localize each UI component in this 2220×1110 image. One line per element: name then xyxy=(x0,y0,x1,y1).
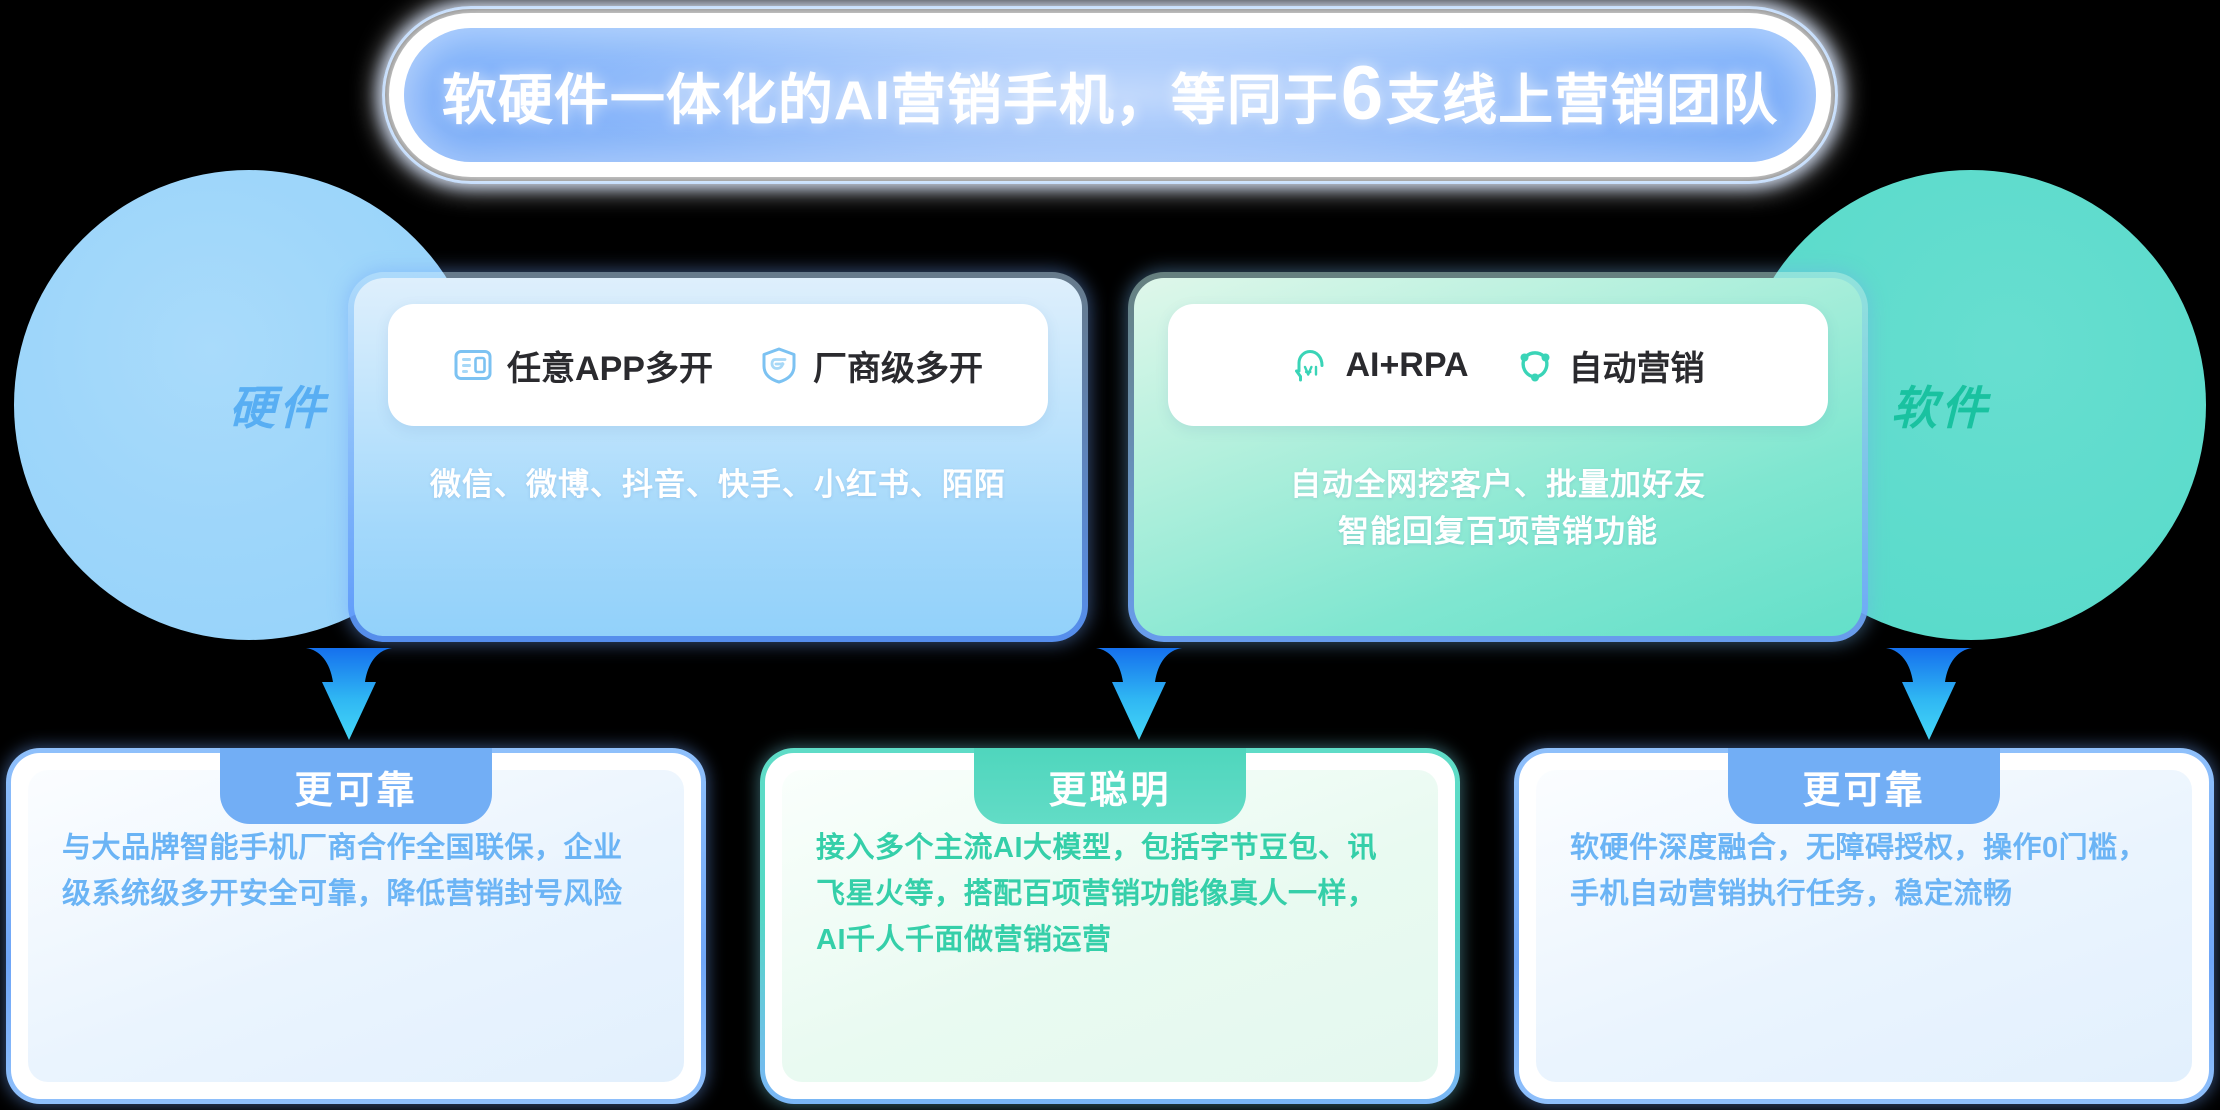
benefit-card-2-text: 接入多个主流AI大模型，包括字节豆包、讯飞星火等，搭配百项营销功能像真人一样，A… xyxy=(816,826,1404,963)
title-banner: 软硬件一体化的AI营销手机，等同于6支线上营销团队 xyxy=(382,6,1838,184)
software-desc-line-1: 自动全网挖客户、批量加好友 xyxy=(1290,462,1706,509)
arrow-down-left-icon xyxy=(306,648,392,744)
software-feature-card: AI+RPA 自动营销 xyxy=(1128,272,1868,642)
software-feature-description: 自动全网挖客户、批量加好友 智能回复百项营销功能 xyxy=(1290,462,1706,555)
software-feature-body: AI+RPA 自动营销 xyxy=(1134,278,1862,636)
benefit-card-1-text: 与大品牌智能手机厂商合作全国联保，企业级系统级多开安全可靠，降低营销封号风险 xyxy=(62,826,650,918)
shield-icon xyxy=(759,345,799,385)
tag-multi-app-label: 任意APP多开 xyxy=(507,341,713,390)
tag-vendor-level[interactable]: 厂商级多开 xyxy=(759,341,983,390)
software-tag-pill: AI+RPA 自动营销 xyxy=(1168,304,1828,426)
software-desc-line-2: 智能回复百项营销功能 xyxy=(1290,509,1706,556)
tag-auto-marketing-label: 自动营销 xyxy=(1569,341,1705,390)
auto-network-icon xyxy=(1515,345,1555,385)
banner-body: 软硬件一体化的AI营销手机，等同于6支线上营销团队 xyxy=(404,28,1816,162)
hardware-feature-description: 微信、微博、抖音、快手、小红书、陌陌 xyxy=(430,462,1006,509)
title-suffix: 支线上营销团队 xyxy=(1386,55,1778,135)
ai-head-icon xyxy=(1291,345,1331,385)
benefit-card-3-tab: 更可靠 xyxy=(1728,748,2000,824)
arrow-down-middle-icon xyxy=(1096,648,1182,744)
benefit-card-1-body: 更可靠 与大品牌智能手机厂商合作全国联保，企业级系统级多开安全可靠，降低营销封号… xyxy=(11,753,701,1099)
benefit-card-3-text: 软硬件深度融合，无障碍授权，操作0门槛，手机自动营销执行任务，稳定流畅 xyxy=(1570,826,2158,918)
software-circle-label: 软件 xyxy=(1891,372,1991,438)
benefit-card-2: 更聪明 接入多个主流AI大模型，包括字节豆包、讯飞星火等，搭配百项营销功能像真人… xyxy=(760,748,1460,1104)
tag-ai-rpa[interactable]: AI+RPA xyxy=(1291,345,1468,385)
benefit-card-1: 更可靠 与大品牌智能手机厂商合作全国联保，企业级系统级多开安全可靠，降低营销封号… xyxy=(6,748,706,1104)
title-highlight-number: 6 xyxy=(1341,64,1384,125)
hardware-tag-pill: 任意APP多开 厂商级多开 xyxy=(388,304,1048,426)
tag-ai-rpa-label: AI+RPA xyxy=(1345,346,1468,385)
hardware-circle-label: 硬件 xyxy=(229,372,329,438)
page-title: 软硬件一体化的AI营销手机，等同于6支线上营销团队 xyxy=(442,55,1778,135)
benefit-card-3-body: 更可靠 软硬件深度融合，无障碍授权，操作0门槛，手机自动营销执行任务，稳定流畅 xyxy=(1519,753,2209,1099)
arrow-down-right-icon xyxy=(1886,648,1972,744)
benefit-card-1-tab-label: 更可靠 xyxy=(294,759,417,814)
multi-app-card-icon xyxy=(453,345,493,385)
benefit-card-1-tab: 更可靠 xyxy=(220,748,492,824)
hardware-feature-body: 任意APP多开 厂商级多开 微信、微博、抖音、快手、小红书、陌陌 xyxy=(354,278,1082,636)
benefit-card-3: 更可靠 软硬件深度融合，无障碍授权，操作0门槛，手机自动营销执行任务，稳定流畅 xyxy=(1514,748,2214,1104)
benefit-card-2-body: 更聪明 接入多个主流AI大模型，包括字节豆包、讯飞星火等，搭配百项营销功能像真人… xyxy=(765,753,1455,1099)
benefit-card-3-tab-label: 更可靠 xyxy=(1802,759,1925,814)
infographic-canvas: 硬件 软件 软硬件一体化的AI营销手机，等同于6支线上营销团队 xyxy=(0,0,2220,1110)
tag-multi-app[interactable]: 任意APP多开 xyxy=(453,341,713,390)
benefit-card-2-tab-label: 更聪明 xyxy=(1048,759,1171,814)
title-prefix: 软硬件一体化的AI营销手机，等同于 xyxy=(442,55,1339,135)
tag-auto-marketing[interactable]: 自动营销 xyxy=(1515,341,1705,390)
benefit-card-2-tab: 更聪明 xyxy=(974,748,1246,824)
hardware-feature-card: 任意APP多开 厂商级多开 微信、微博、抖音、快手、小红书、陌陌 xyxy=(348,272,1088,642)
tag-vendor-level-label: 厂商级多开 xyxy=(813,341,983,390)
